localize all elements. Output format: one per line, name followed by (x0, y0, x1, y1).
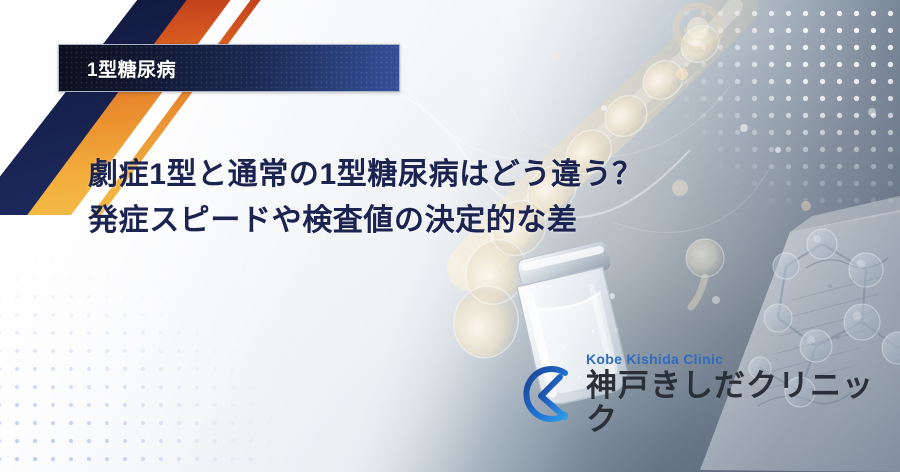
page-title: 劇症1型と通常の1型糖尿病はどう違う？ 発症スピードや検査値の決定的な差 (88, 152, 728, 243)
headline-line-2: 発症スピードや検査値の決定的な差 (88, 198, 728, 244)
article-thumbnail-banner: 1型糖尿病 劇症1型と通常の1型糖尿病はどう違う？ 発症スピードや検査値の決定的… (0, 0, 900, 472)
category-badge[interactable]: 1型糖尿病 (58, 44, 400, 92)
clinic-logo[interactable]: Kobe Kishida Clinic 神戸きしだクリニック (513, 352, 900, 436)
clinic-name-en: Kobe Kishida Clinic (586, 352, 900, 367)
clinic-name-jp: 神戸きしだクリニック (586, 369, 900, 436)
category-badge-label: 1型糖尿病 (87, 55, 176, 82)
logo-k-circle-icon (513, 361, 579, 427)
clinic-logo-text: Kobe Kishida Clinic 神戸きしだクリニック (586, 352, 900, 436)
headline-line-1: 劇症1型と通常の1型糖尿病はどう違う？ (88, 152, 728, 198)
